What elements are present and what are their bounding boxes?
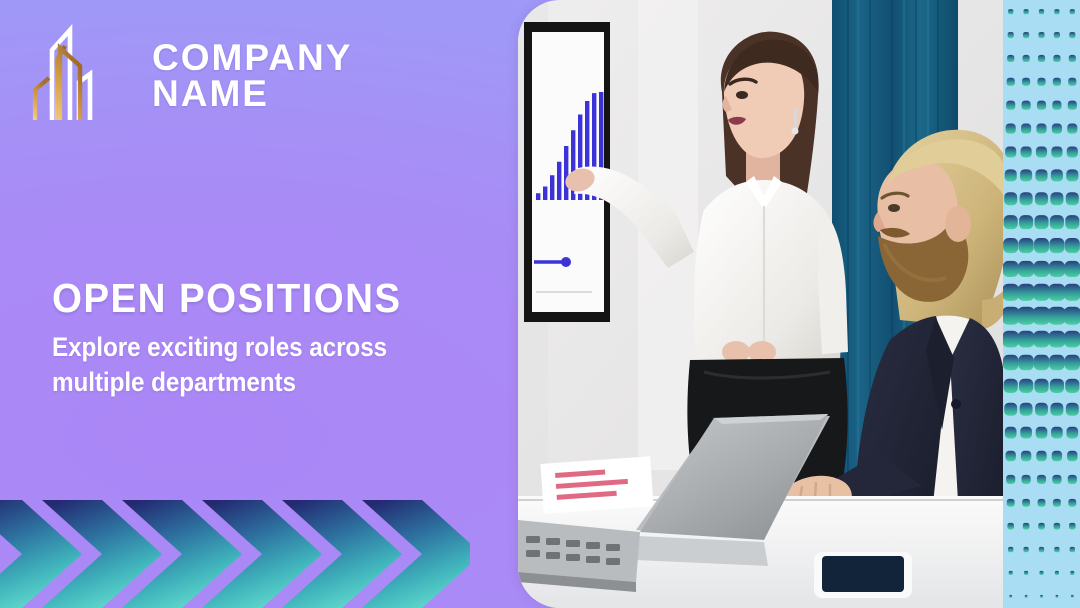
halftone-dot [1019, 238, 1034, 253]
halftone-dot [1003, 238, 1018, 253]
halftone-dot [1065, 355, 1080, 370]
halftone-dot [1063, 307, 1080, 325]
halftone-dot [1048, 284, 1065, 301]
halftone-dot-decoration [1003, 0, 1080, 608]
halftone-dot [1021, 124, 1031, 134]
halftone-dot [1018, 284, 1035, 301]
halftone-dot [1066, 427, 1078, 439]
halftone-dot [1052, 451, 1062, 461]
halftone-dot [1022, 101, 1031, 110]
halftone-dot [1007, 523, 1014, 530]
halftone-dot [1050, 215, 1064, 229]
halftone-dot [1052, 101, 1061, 110]
halftone-dot [1068, 475, 1077, 484]
halftone-dot [1034, 355, 1049, 370]
halftone-dot [1038, 499, 1046, 507]
halftone-dot [1033, 284, 1050, 301]
halftone-dot [1006, 101, 1015, 110]
halftone-dot [1003, 261, 1019, 277]
halftone-dot [1034, 215, 1048, 229]
halftone-dot [1039, 9, 1044, 14]
chart-bar [543, 187, 547, 201]
halftone-dot [1064, 284, 1080, 301]
halftone-dot [1035, 169, 1047, 181]
halftone-dot [1071, 595, 1074, 598]
halftone-dot [1008, 9, 1013, 14]
halftone-dot [1037, 78, 1045, 86]
halftone-dot [1007, 78, 1015, 86]
halftone-dot [1050, 379, 1064, 393]
building-skyline-icon [22, 16, 142, 136]
halftone-dot [1038, 32, 1044, 38]
halftone-dot [1008, 547, 1013, 552]
brand-logo[interactable]: COMPANY NAME [22, 16, 352, 136]
halftone-dots [1003, 0, 1080, 608]
halftone-dot [1033, 261, 1049, 277]
halftone-dot [1023, 547, 1028, 552]
halftone-dot [1069, 523, 1076, 530]
halftone-dot [1054, 9, 1059, 14]
brand-name-line2: NAME [152, 76, 352, 112]
halftone-dot [1066, 192, 1079, 205]
halftone-dot [1040, 595, 1043, 598]
halftone-dot [1054, 547, 1059, 552]
halftone-dot [1064, 261, 1080, 277]
halftone-dot [1020, 169, 1032, 181]
brand-name-line1: COMPANY [152, 40, 352, 76]
halftone-dot [1022, 78, 1030, 86]
halftone-dot [1024, 571, 1028, 575]
halftone-dot [1007, 499, 1015, 507]
halftone-dot [1068, 101, 1077, 110]
halftone-dot [1004, 403, 1017, 416]
halftone-dot [1065, 238, 1080, 253]
halftone-dot [1021, 146, 1032, 157]
banner-canvas: COMPANY NAME OPEN POSITIONS Explore exci… [0, 0, 1080, 608]
halftone-dot [1020, 427, 1032, 439]
halftone-dot [1035, 192, 1048, 205]
halftone-dot [1006, 475, 1015, 484]
halftone-dot [1004, 379, 1018, 393]
halftone-dot [1036, 427, 1048, 439]
halftone-dot [1023, 523, 1030, 530]
halftone-dot [1006, 124, 1016, 134]
halftone-dot [1004, 192, 1017, 205]
halftone-dot [1034, 238, 1049, 253]
hero-photo [518, 0, 1006, 608]
halftone-dot [1051, 427, 1063, 439]
halftone-dot [1064, 331, 1080, 348]
chart-bar [564, 146, 568, 200]
halftone-dot [1066, 403, 1079, 416]
halftone-dot [1023, 55, 1030, 62]
halftone-dot [1051, 146, 1062, 157]
halftone-dot [1070, 547, 1075, 552]
halftone-dot [1022, 499, 1030, 507]
halftone-dot [1008, 32, 1014, 38]
halftone-dot [1023, 32, 1029, 38]
halftone-dot [1020, 192, 1033, 205]
halftone-dot [1070, 571, 1074, 575]
halftone-dot [1007, 55, 1014, 62]
halftone-dot [1052, 124, 1062, 134]
halftone-dot [1018, 261, 1034, 277]
halftone-dot [1035, 403, 1048, 416]
page-subtitle: Explore exciting roles across multiple d… [52, 330, 453, 400]
page-title: OPEN POSITIONS [52, 278, 470, 319]
halftone-dot [1018, 331, 1035, 348]
halftone-dot [1003, 331, 1019, 348]
halftone-dot [1024, 9, 1029, 14]
halftone-dot [1036, 146, 1047, 157]
halftone-dot [1054, 32, 1060, 38]
halftone-dot [1020, 403, 1033, 416]
smartphone [814, 552, 912, 598]
halftone-dot [1033, 307, 1051, 325]
halftone-dot [1009, 571, 1013, 575]
halftone-dot [1003, 284, 1019, 301]
halftone-dot [1036, 124, 1046, 134]
halftone-dot [1065, 215, 1079, 229]
halftone-dot [1055, 571, 1059, 575]
halftone-dot [1009, 595, 1012, 598]
halftone-dot [1004, 215, 1018, 229]
halftone-dot [1049, 238, 1064, 253]
halftone-dot [1052, 475, 1061, 484]
headline-block: OPEN POSITIONS Explore exciting roles ac… [52, 278, 497, 400]
halftone-dot [1069, 32, 1075, 38]
halftone-dot [1003, 355, 1018, 370]
brand-name: COMPANY NAME [152, 40, 352, 111]
halftone-dot [1053, 55, 1060, 62]
halftone-dot [1019, 379, 1033, 393]
chevron-arrow-decoration [0, 488, 470, 608]
halftone-dot [1021, 451, 1031, 461]
halftone-dot [1066, 169, 1078, 181]
halftone-dot [1037, 475, 1046, 484]
halftone-dot [1036, 451, 1046, 461]
halftone-dot [1005, 427, 1017, 439]
halftone-dot [1005, 146, 1016, 157]
halftone-dot [1048, 307, 1066, 325]
halftone-dot [1018, 355, 1033, 370]
halftone-dot [1037, 101, 1046, 110]
chart-bar [536, 193, 540, 200]
halftone-dot [1005, 169, 1017, 181]
halftone-dot [1034, 379, 1048, 393]
halftone-dot [1039, 571, 1043, 575]
halftone-dot [1049, 355, 1064, 370]
halftone-dot [1033, 331, 1050, 348]
halftone-dot [1067, 124, 1077, 134]
halftone-dot [1049, 261, 1065, 277]
halftone-dot [1053, 499, 1061, 507]
halftone-dot [1022, 475, 1031, 484]
papers [540, 456, 653, 514]
halftone-dot [1067, 451, 1077, 461]
chart-bar [557, 162, 561, 200]
halftone-dot [1067, 146, 1078, 157]
halftone-dot [1056, 595, 1059, 598]
halftone-dot [1068, 499, 1076, 507]
halftone-dot [1006, 451, 1016, 461]
halftone-dot [1069, 55, 1076, 62]
office-scene-illustration [518, 0, 1006, 608]
halftone-dot [1065, 379, 1079, 393]
halftone-dot [1017, 307, 1035, 325]
chart-bar [550, 175, 554, 200]
halftone-dot [1053, 78, 1061, 86]
halftone-dot [1038, 523, 1045, 530]
halftone-dot [1054, 523, 1061, 530]
halftone-dot [1070, 9, 1075, 14]
halftone-dot [1025, 595, 1028, 598]
halftone-dot [1050, 192, 1063, 205]
halftone-dot [1051, 169, 1063, 181]
halftone-dot [1038, 55, 1045, 62]
halftone-dot [1050, 403, 1063, 416]
halftone-dot [1068, 78, 1076, 86]
halftone-dot [1039, 547, 1044, 552]
halftone-dot [1049, 331, 1066, 348]
halftone-dot [1019, 215, 1033, 229]
